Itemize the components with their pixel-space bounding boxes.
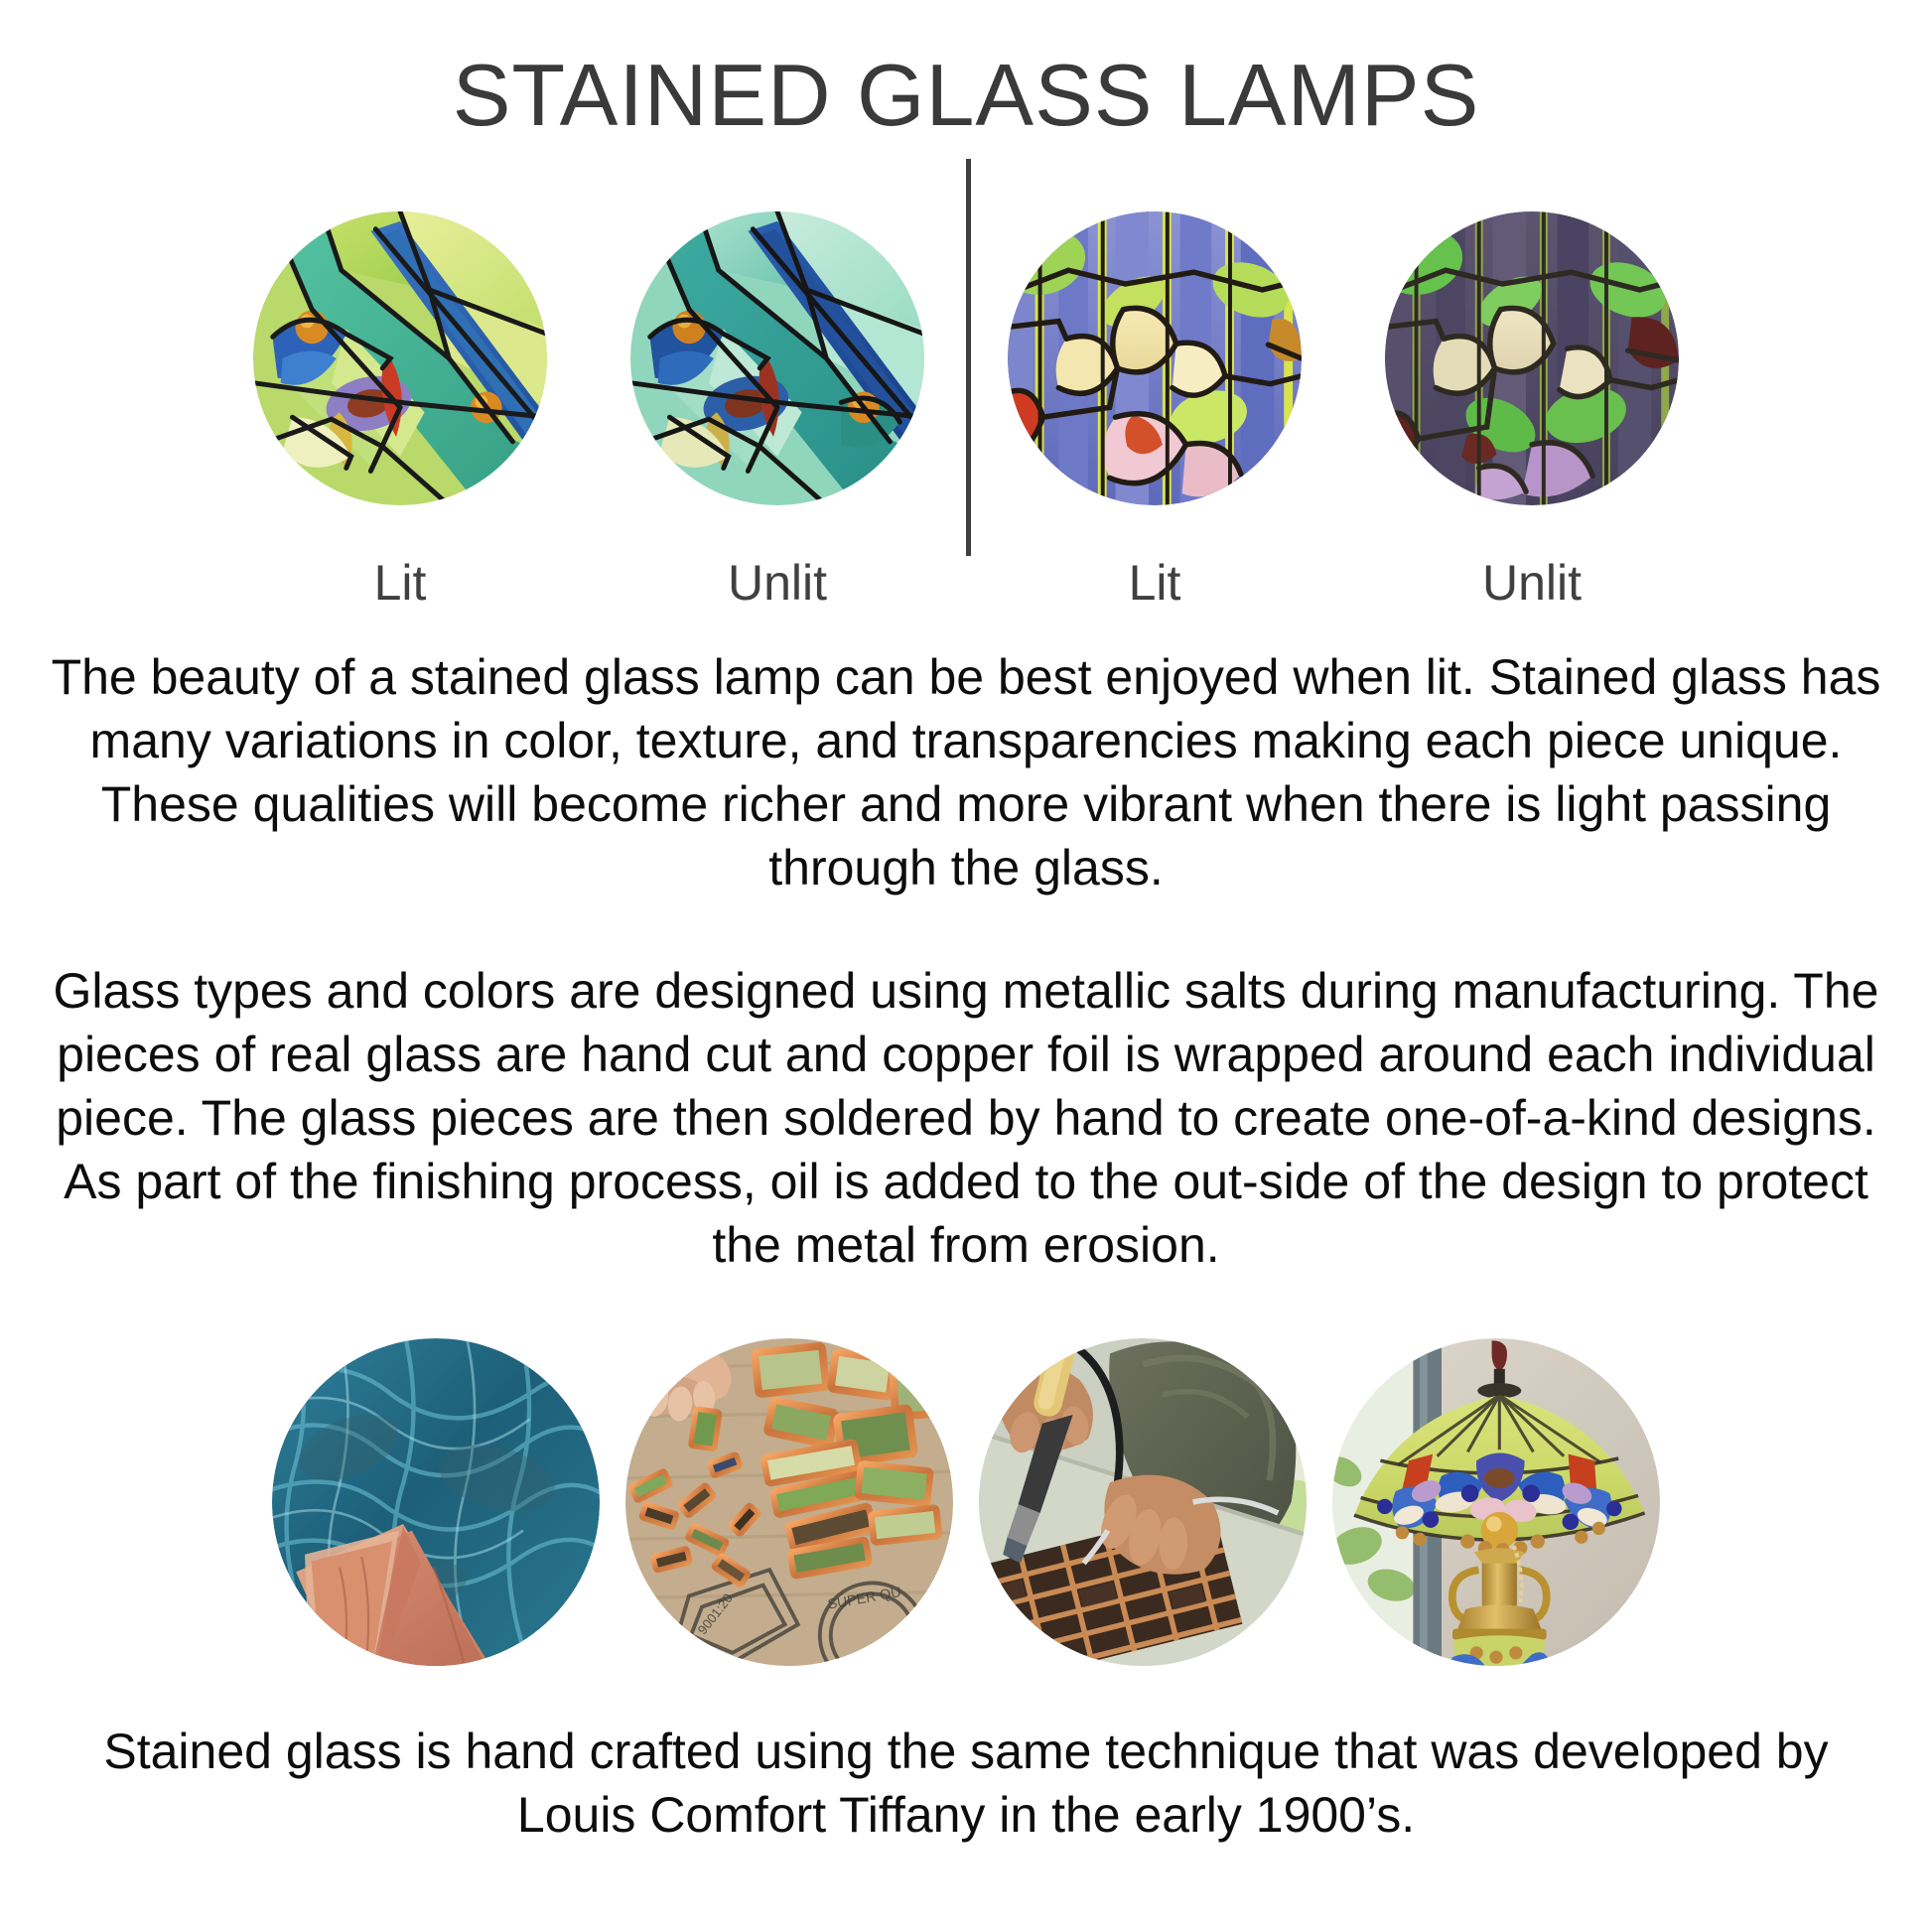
paragraph-2: Glass types and colors are designed usin… [48,959,1884,1277]
comparison-cell-lamp-a-lit [211,211,589,505]
footer-caption: Stained glass is hand crafted using the … [0,1720,1932,1847]
caption-lamp-a-lit: Lit [211,554,589,612]
stained-glass-sample-lamp-a-unlit [630,211,924,505]
comparison-cell-lamp-b-lit [966,211,1343,505]
process-image-finished-lamp [1332,1338,1660,1666]
comparison-row [0,185,1932,532]
caption-lamp-b-unlit: Unlit [1343,554,1721,612]
comparison-caption-row: Lit Unlit Lit Unlit [0,554,1932,612]
comparison-divider [966,159,971,556]
stained-glass-sample-lamp-b-lit [1008,211,1302,505]
process-image-hand-soldering [979,1338,1307,1666]
stained-glass-sample-lamp-a-lit [253,211,547,505]
process-image-copper-foiling: SUPER QU 9001:20 [625,1338,953,1666]
process-row: SUPER QU 9001:20 [0,1338,1932,1666]
comparison-cell-lamp-b-unlit [1343,211,1721,505]
page-title: STAINED GLASS LAMPS [0,0,1932,139]
body-copy: The beauty of a stained glass lamp can b… [0,645,1932,1277]
paragraph-1: The beauty of a stained glass lamp can b… [48,645,1884,899]
caption-lamp-a-unlit: Unlit [589,554,966,612]
comparison-cell-lamp-a-unlit [589,211,966,505]
caption-lamp-b-lit: Lit [966,554,1343,612]
process-image-raw-glass-sheet [272,1338,600,1666]
infographic-page: STAINED GLASS LAMPS [0,0,1932,1932]
stained-glass-sample-lamp-b-unlit [1385,211,1679,505]
